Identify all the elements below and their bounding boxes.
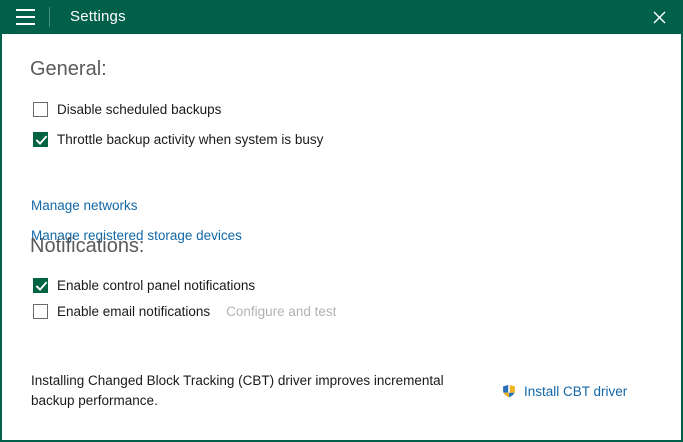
install-cbt-driver-button[interactable]: Install CBT driver <box>501 383 627 399</box>
checkbox-row-throttle-backup-activity[interactable]: Throttle backup activity when system is … <box>33 130 323 148</box>
hamburger-line <box>16 9 35 11</box>
checkbox-throttle-backup-activity[interactable] <box>33 132 48 147</box>
link-configure-and-test: Configure and test <box>226 304 336 319</box>
window-title: Settings <box>70 0 126 34</box>
checkbox-label: Enable control panel notifications <box>57 278 255 293</box>
checkmark-icon <box>35 134 48 147</box>
hamburger-menu-icon[interactable] <box>8 0 42 34</box>
checkbox-label: Throttle backup activity when system is … <box>57 132 323 147</box>
checkbox-label: Enable email notifications <box>57 304 210 319</box>
hamburger-line <box>16 23 35 25</box>
link-manage-networks[interactable]: Manage networks <box>31 198 138 213</box>
settings-window: Settings General: Disable scheduled back… <box>0 0 683 442</box>
checkbox-row-enable-control-panel-notifications[interactable]: Enable control panel notifications <box>33 276 255 294</box>
notifications-section-heading: Notifications: <box>30 235 145 258</box>
close-icon[interactable] <box>639 0 679 34</box>
checkbox-disable-scheduled-backups[interactable] <box>33 102 48 117</box>
general-section-heading: General: <box>30 58 107 81</box>
checkbox-row-enable-email-notifications[interactable]: Enable email notifications Configure and… <box>33 302 336 320</box>
uac-shield-icon <box>501 383 517 399</box>
settings-content-panel: General: Disable scheduled backups Throt… <box>0 34 683 442</box>
checkmark-icon <box>35 280 48 293</box>
cbt-description-text: Installing Changed Block Tracking (CBT) … <box>31 371 461 411</box>
checkbox-label: Disable scheduled backups <box>57 102 221 117</box>
checkbox-enable-email-notifications[interactable] <box>33 304 48 319</box>
checkbox-row-disable-scheduled-backups[interactable]: Disable scheduled backups <box>33 100 221 118</box>
install-cbt-driver-label: Install CBT driver <box>524 384 627 399</box>
checkbox-enable-control-panel-notifications[interactable] <box>33 278 48 293</box>
title-divider <box>49 7 50 27</box>
hamburger-line <box>16 16 35 18</box>
title-bar: Settings <box>0 0 683 34</box>
